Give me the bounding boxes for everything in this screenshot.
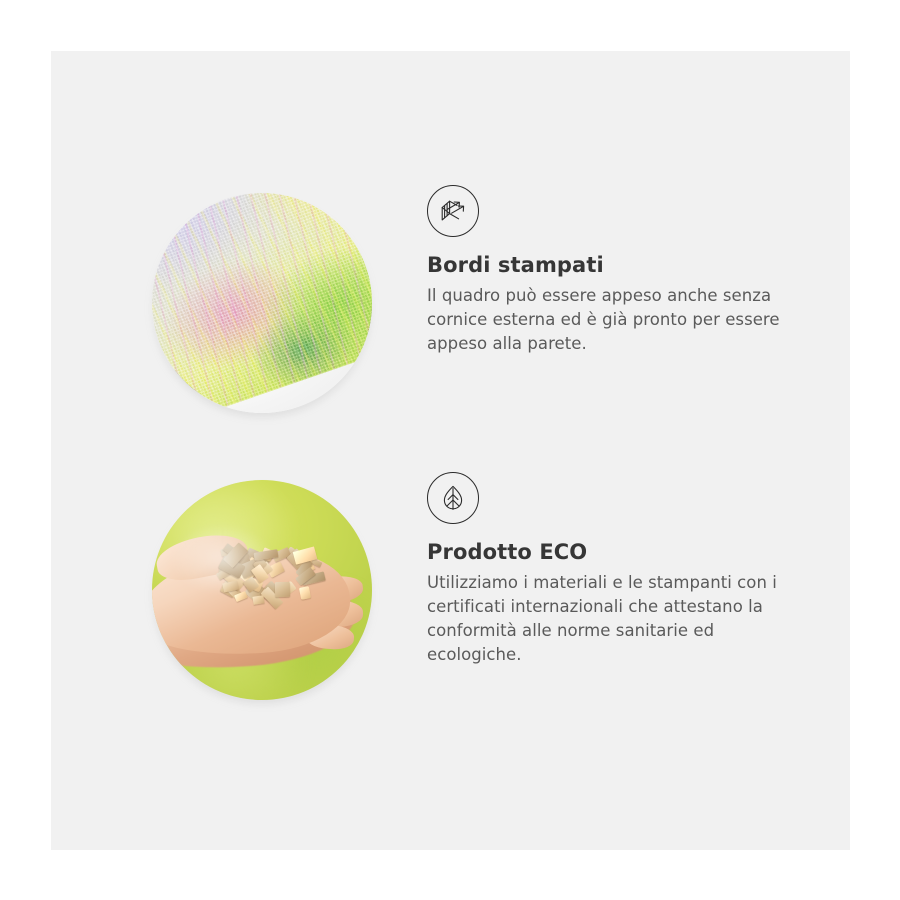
printed-canvas-corner-photo [152,193,372,413]
hands-with-wood-chips-photo [152,480,372,700]
feature-text-column: Bordi stampati Il quadro può essere appe… [427,185,802,356]
wood-chip [299,586,311,599]
feature-title: Prodotto ECO [427,540,802,565]
product-feature-page: Bordi stampati Il quadro può essere appe… [0,0,900,900]
content-panel [51,51,850,850]
printed-edges-icon [427,185,479,237]
feature-text-column: Prodotto ECO Utilizziamo i materiali e l… [427,472,802,667]
wood-chip [252,595,264,605]
feature-photo-wrapper [152,480,372,700]
feature-block-eco-product: Prodotto ECO Utilizziamo i materiali e l… [140,472,820,712]
feature-description: Utilizziamo i materiali e le stampanti c… [427,571,789,667]
feature-photo-wrapper [152,193,372,413]
feature-description: Il quadro può essere appeso anche senza … [427,284,789,356]
sun-highlight [170,524,276,594]
feature-block-printed-edges: Bordi stampati Il quadro può essere appe… [140,185,820,425]
leaf-icon [427,472,479,524]
wood-chip [275,582,290,597]
feature-title: Bordi stampati [427,253,802,278]
